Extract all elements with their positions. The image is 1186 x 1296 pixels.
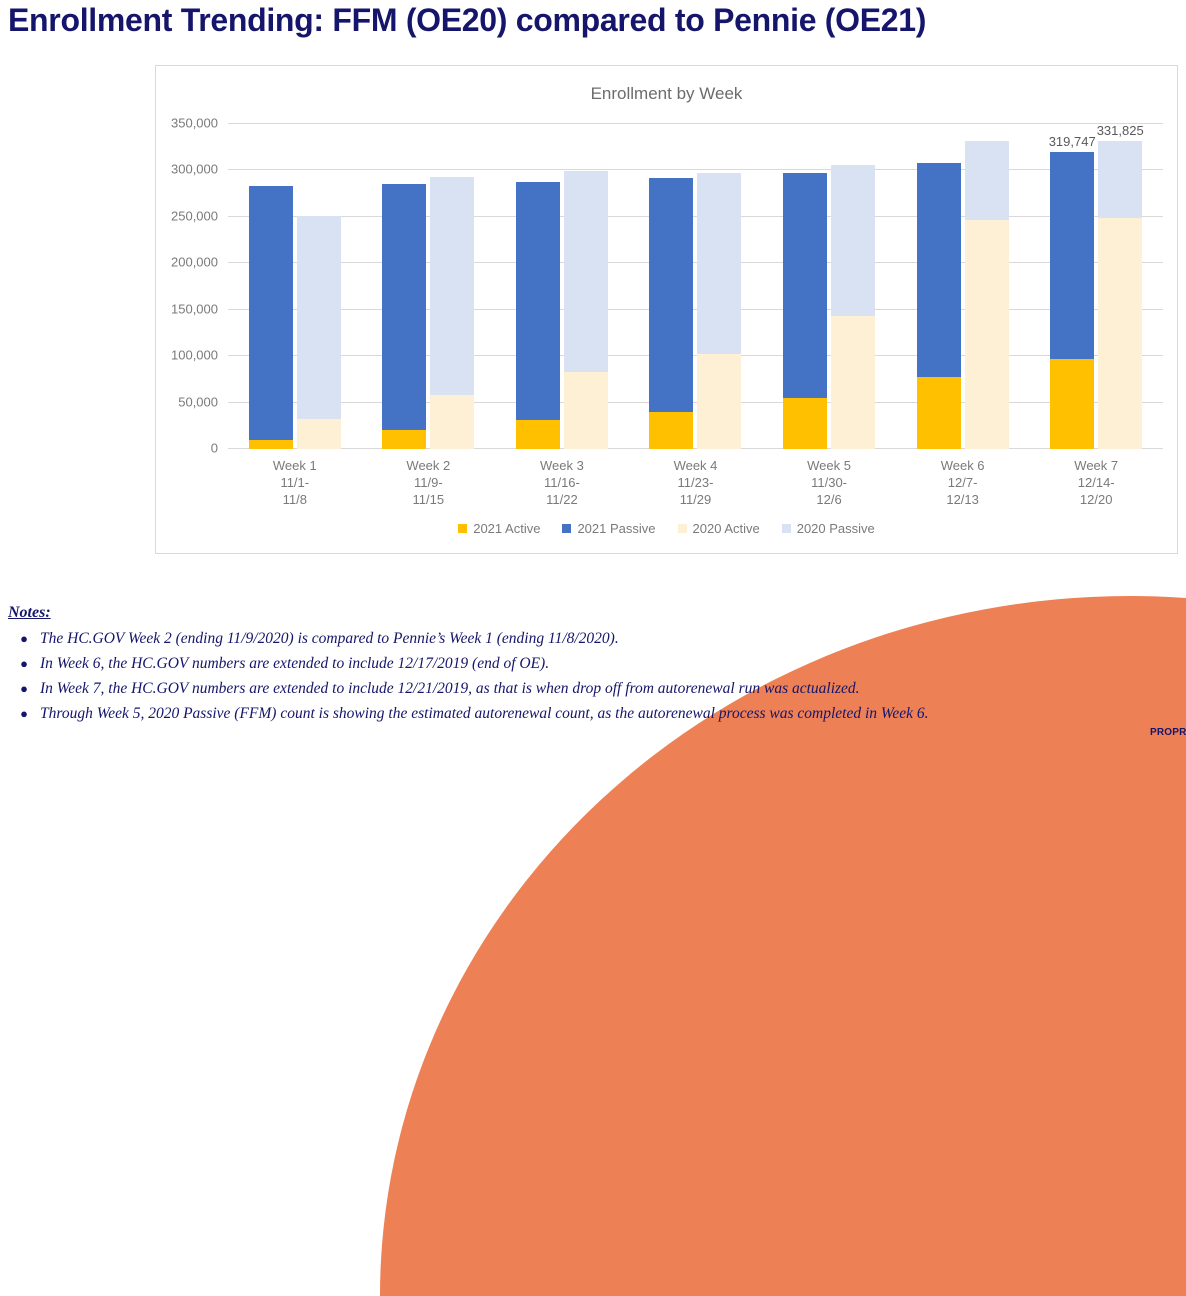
bullet-icon: ● [8, 653, 40, 674]
chart-bar-segment[interactable] [831, 165, 875, 316]
chart-bar-segment[interactable] [1050, 359, 1094, 449]
note-item: ●In Week 7, the HC.GOV numbers are exten… [8, 678, 1178, 699]
page-title: Enrollment Trending: FFM (OE20) compared… [8, 2, 1178, 39]
legend-label: 2021 Active [473, 521, 540, 536]
chart-bar-segment[interactable] [1098, 141, 1142, 218]
proprietary-mark: PROPRIETARY [1150, 727, 1186, 738]
note-item: ●In Week 6, the HC.GOV numbers are exten… [8, 653, 1178, 674]
chart-title: Enrollment by Week [156, 84, 1177, 104]
chart-legend: 2021 Active2021 Passive2020 Active2020 P… [156, 521, 1177, 536]
y-axis-tick-label: 0 [211, 441, 218, 456]
chart-bar[interactable] [297, 216, 341, 449]
chart-bar[interactable] [430, 177, 474, 449]
note-text: In Week 7, the HC.GOV numbers are extend… [40, 678, 860, 699]
legend-item[interactable]: 2020 Passive [782, 521, 875, 536]
legend-item[interactable]: 2020 Active [678, 521, 760, 536]
legend-label: 2020 Active [693, 521, 760, 536]
chart-bar-segment[interactable] [649, 412, 693, 449]
chart-bar[interactable] [783, 173, 827, 449]
chart-bar-segment[interactable] [965, 141, 1009, 220]
chart-bar-group [896, 124, 1030, 449]
y-axis-tick-label: 100,000 [171, 348, 218, 363]
chart-bar-segment[interactable] [783, 398, 827, 449]
chart-bar-segment[interactable] [917, 377, 961, 449]
chart-container: Enrollment by Week 050,000100,000150,000… [155, 65, 1178, 554]
chart-bar-segment[interactable] [249, 186, 293, 440]
chart-x-axis: Week 111/1-11/8Week 211/9-11/15Week 311/… [228, 457, 1163, 517]
chart-bar-segment[interactable] [430, 177, 474, 395]
chart-bar-segment[interactable] [649, 178, 693, 412]
chart-bar-segment[interactable] [831, 316, 875, 449]
chart-bar-segment[interactable] [1050, 152, 1094, 359]
chart-bar-segment[interactable] [917, 163, 961, 377]
legend-label: 2020 Passive [797, 521, 875, 536]
chart-bar-segment[interactable] [249, 440, 293, 449]
x-axis-tick-label: Week 111/1-11/8 [228, 457, 362, 508]
notes-list: ●The HC.GOV Week 2 (ending 11/9/2020) is… [8, 628, 1178, 724]
chart-data-label: 319,747 [1049, 134, 1096, 149]
legend-swatch [458, 524, 467, 533]
chart-bar[interactable] [917, 163, 961, 449]
chart-bar[interactable] [965, 141, 1009, 449]
chart-bar[interactable]: 319,747 [1050, 152, 1094, 449]
legend-item[interactable]: 2021 Active [458, 521, 540, 536]
notes-heading: Notes: [8, 604, 1178, 622]
chart-bar[interactable] [382, 184, 426, 449]
notes-section: Notes: ●The HC.GOV Week 2 (ending 11/9/2… [8, 604, 1178, 728]
note-item: ●The HC.GOV Week 2 (ending 11/9/2020) is… [8, 628, 1178, 649]
y-axis-tick-label: 300,000 [171, 162, 218, 177]
y-axis-tick-label: 150,000 [171, 301, 218, 316]
legend-swatch [562, 524, 571, 533]
chart-bar-segment[interactable] [697, 173, 741, 354]
chart-plot-area: 050,000100,000150,000200,000250,000300,0… [228, 124, 1163, 449]
chart-bar[interactable]: 331,825 [1098, 141, 1142, 449]
chart-bar-segment[interactable] [516, 182, 560, 421]
chart-bar-segment[interactable] [1098, 218, 1142, 449]
x-axis-tick-label: Week 712/14-12/20 [1029, 457, 1163, 508]
legend-swatch [782, 524, 791, 533]
chart-bar-segment[interactable] [297, 419, 341, 449]
note-text: Through Week 5, 2020 Passive (FFM) count… [40, 703, 929, 724]
chart-bar-segment[interactable] [516, 420, 560, 449]
chart-bar-segment[interactable] [430, 395, 474, 449]
chart-bar-segment[interactable] [965, 220, 1009, 449]
chart-bar-group [762, 124, 896, 449]
chart-bar[interactable] [649, 178, 693, 449]
y-axis-tick-label: 350,000 [171, 116, 218, 131]
chart-bar[interactable] [249, 186, 293, 449]
chart-bar-segment[interactable] [564, 372, 608, 449]
chart-bar-segment[interactable] [382, 184, 426, 429]
note-text: In Week 6, the HC.GOV numbers are extend… [40, 653, 549, 674]
chart-bar-segment[interactable] [697, 354, 741, 449]
note-text: The HC.GOV Week 2 (ending 11/9/2020) is … [40, 628, 619, 649]
bullet-icon: ● [8, 678, 40, 699]
x-axis-tick-label: Week 612/7-12/13 [896, 457, 1030, 508]
chart-bar-group [629, 124, 763, 449]
chart-bar-segment[interactable] [297, 216, 341, 419]
chart-bar[interactable] [831, 165, 875, 449]
x-axis-tick-label: Week 511/30-12/6 [762, 457, 896, 508]
chart-bar[interactable] [564, 171, 608, 449]
y-axis-tick-label: 200,000 [171, 255, 218, 270]
chart-bar[interactable] [516, 182, 560, 449]
chart-data-label: 331,825 [1097, 123, 1144, 138]
bullet-icon: ● [8, 703, 40, 724]
chart-bar-group [228, 124, 362, 449]
x-axis-tick-label: Week 311/16-11/22 [495, 457, 629, 508]
note-item: ●Through Week 5, 2020 Passive (FFM) coun… [8, 703, 1178, 724]
x-axis-tick-label: Week 411/23-11/29 [629, 457, 763, 508]
chart-bar-group [495, 124, 629, 449]
bullet-icon: ● [8, 628, 40, 649]
chart-bar-segment[interactable] [564, 171, 608, 372]
chart-bar-segment[interactable] [783, 173, 827, 398]
y-axis-tick-label: 250,000 [171, 208, 218, 223]
chart-bar[interactable] [697, 173, 741, 449]
chart-bar-group: 319,747331,825 [1029, 124, 1163, 449]
x-axis-tick-label: Week 211/9-11/15 [362, 457, 496, 508]
legend-label: 2021 Passive [577, 521, 655, 536]
chart-bar-segment[interactable] [382, 430, 426, 450]
legend-swatch [678, 524, 687, 533]
legend-item[interactable]: 2021 Passive [562, 521, 655, 536]
y-axis-tick-label: 50,000 [178, 394, 218, 409]
chart-bar-group [362, 124, 496, 449]
